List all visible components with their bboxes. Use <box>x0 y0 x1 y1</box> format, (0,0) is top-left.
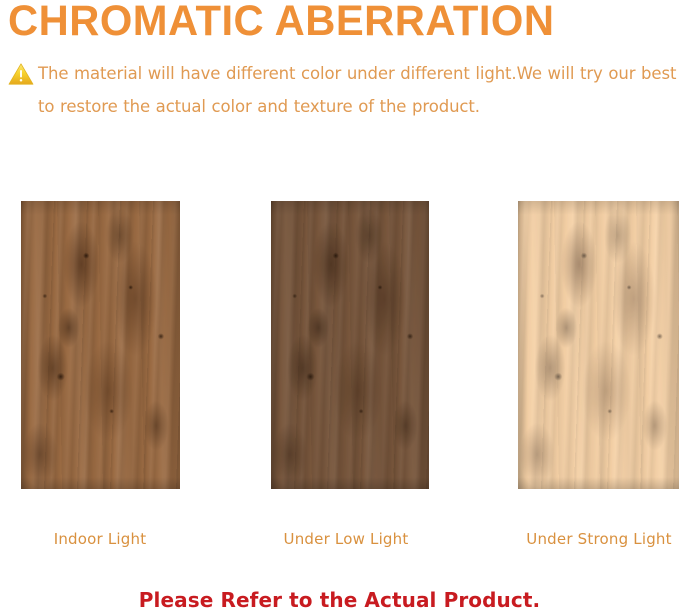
panel-caption-indoor-light: Indoor Light <box>0 530 200 548</box>
wood-edge-shading <box>271 201 429 489</box>
panel-caption-strong-light: Under Strong Light <box>499 530 679 548</box>
panel-caption-low-light: Under Low Light <box>246 530 446 548</box>
warning-triangle-icon <box>8 62 34 86</box>
wood-panel-strong-light <box>518 201 679 489</box>
wood-edge-shading <box>21 201 180 489</box>
wood-sample-gallery <box>0 201 679 489</box>
wood-panel-indoor-light <box>21 201 180 489</box>
footer-disclaimer: Please Refer to the Actual Product. <box>0 588 679 612</box>
wood-panel-low-light <box>271 201 429 489</box>
wood-edge-shading <box>518 201 679 489</box>
page-title: CHROMATIC ABERRATION <box>8 0 648 46</box>
notice-text: The material will have different color u… <box>38 57 679 123</box>
